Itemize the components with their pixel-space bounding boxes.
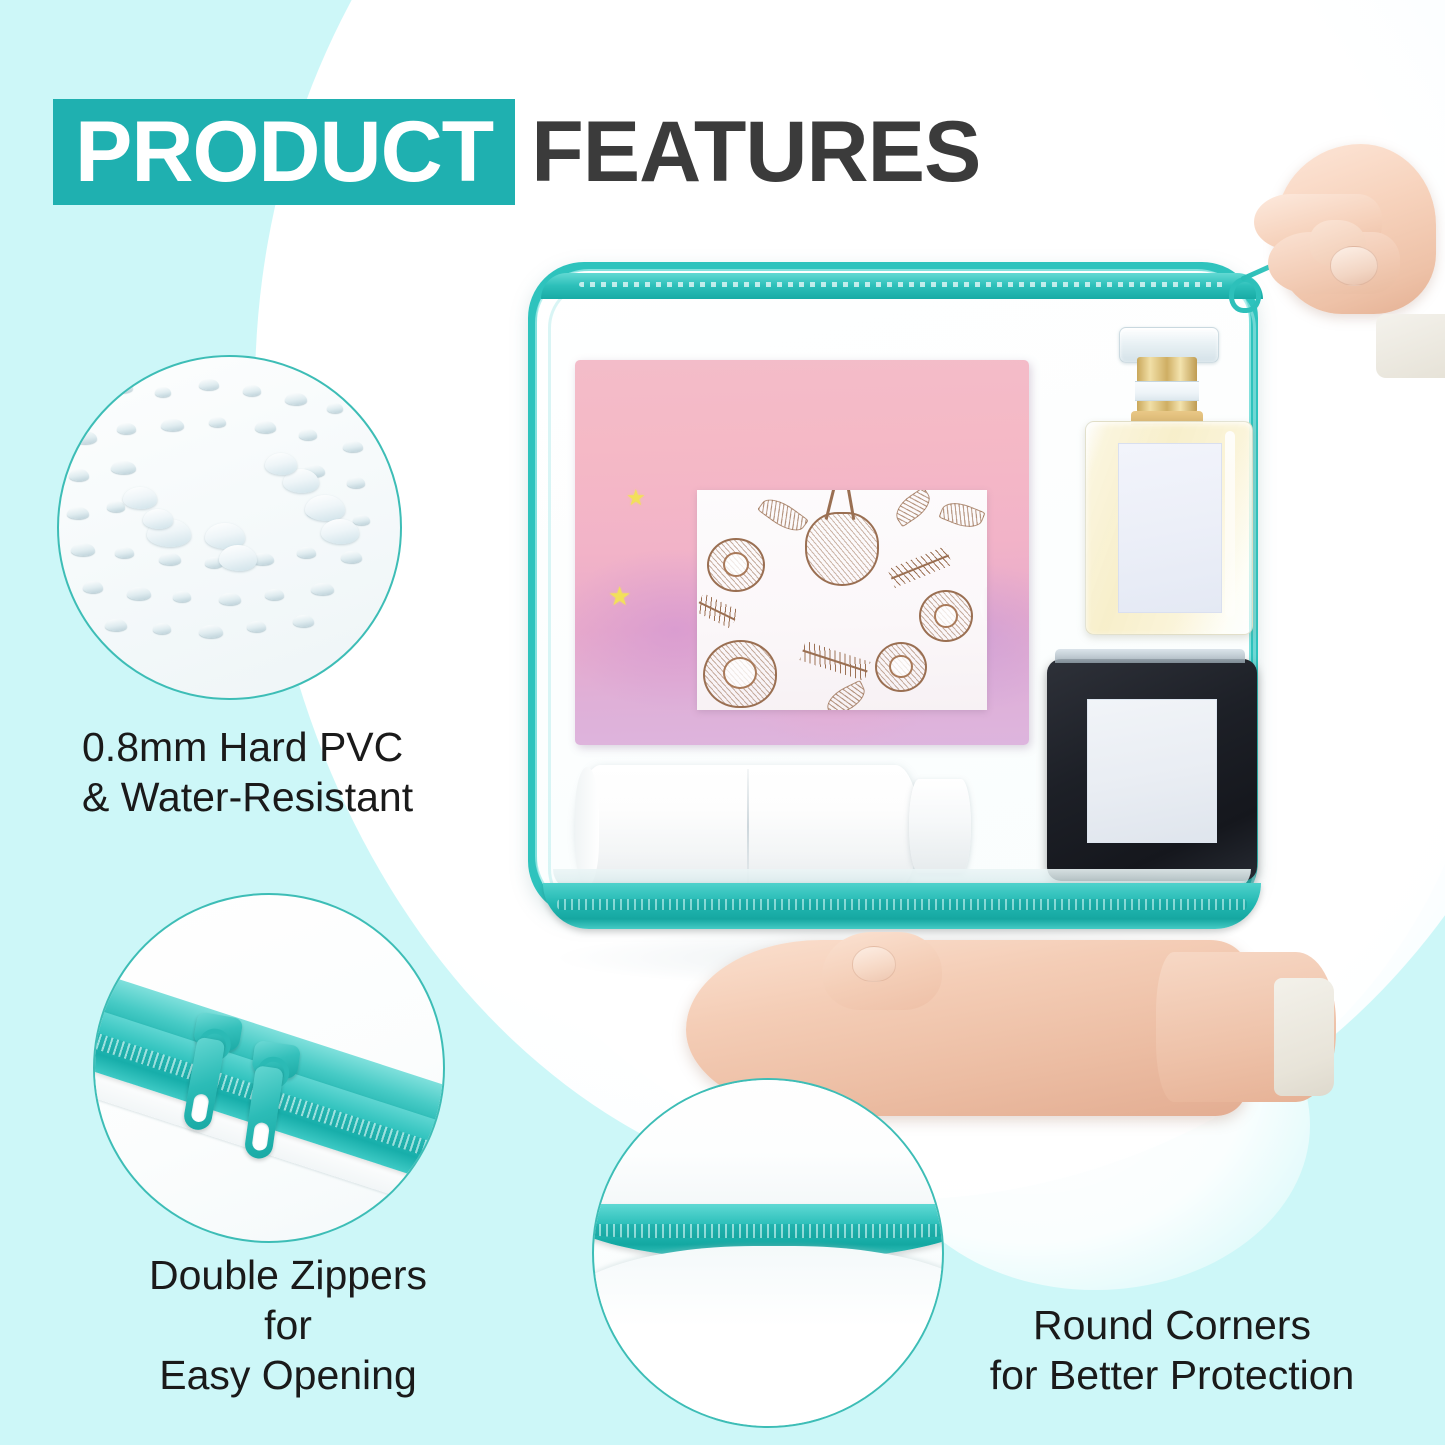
coconut-pattern-card [697,490,987,710]
zipper-pull-right [251,1040,301,1080]
feature-image-water-resistant [57,355,402,700]
compact-label [1087,699,1217,843]
feature-image-double-zippers [93,893,445,1243]
feature-caption-round-corners: Round Corners for Better Protection [986,1300,1358,1400]
black-compact-case [1047,659,1257,881]
bag-shell [528,262,1258,917]
feature-caption-water-resistant: 0.8mm Hard PVC & Water-Resistant [82,722,413,822]
pink-gradient-notebook [575,360,1029,745]
bag-zipper-cord [1241,277,1243,278]
zipper-pull-left [192,1011,243,1052]
fingernail [1330,246,1378,286]
corner-zipper-teeth [592,1224,944,1238]
feature-image-round-corners [592,1078,944,1428]
perfume-highlight [1225,431,1235,617]
perfume-bottle [1075,327,1261,667]
product-features-infographic: PRODUCT FEATURES [0,0,1445,1445]
tube-cap [909,779,971,873]
tube-seam [747,769,749,885]
compact-lip [1055,649,1245,663]
perfume-label [1118,443,1222,613]
feature-caption-double-zippers: Double Zippers for Easy Opening [127,1250,449,1400]
page-title-rest: FEATURES [515,99,980,205]
thumbnail [852,946,896,982]
page-title: PRODUCT FEATURES [53,99,980,205]
perfume-neck-ring [1135,381,1199,401]
bag-top-zipper [541,273,1263,299]
sleeve-top [1376,314,1445,378]
page-title-highlight: PRODUCT [53,99,515,205]
hand-pulling-zipper [1254,128,1445,378]
corner-lower-shell [592,1246,944,1428]
sleeve [1274,978,1334,1096]
product-image-clear-pvc-bag [528,262,1268,942]
bag-zipper-stitching [579,282,1225,287]
coconut-drink-illustration [805,512,879,586]
